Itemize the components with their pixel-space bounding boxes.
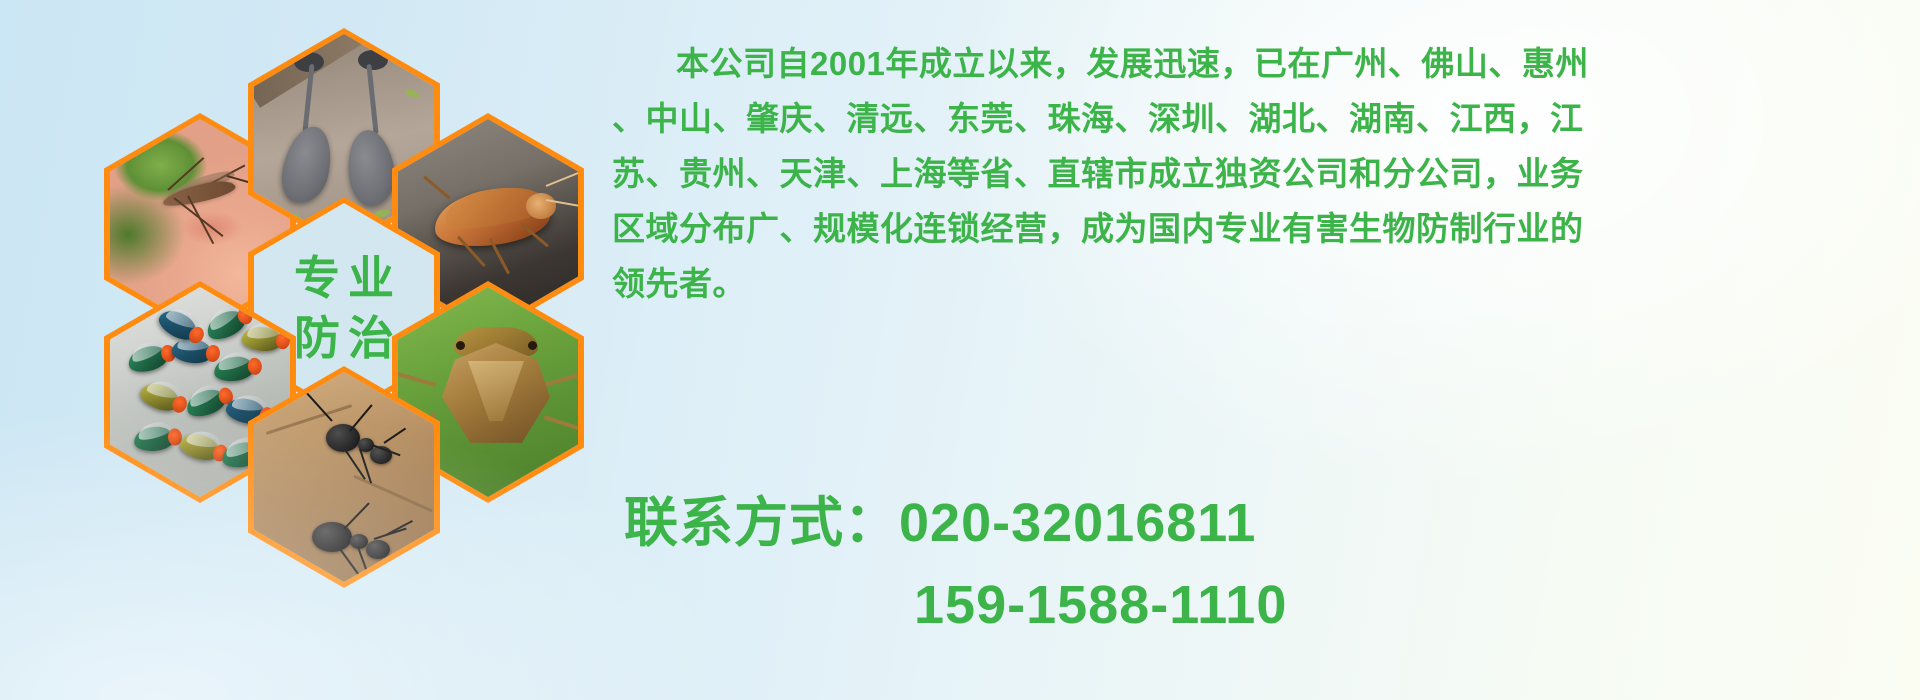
contact-phone-row: 联系方式：020-32016811 <box>624 482 1914 564</box>
intro-line-1: 本公司自2001年成立以来，发展迅速，已在广州、佛山、惠州 <box>612 36 1902 91</box>
ant-gaster <box>326 424 360 452</box>
ants-photo <box>254 372 434 582</box>
fly-body <box>137 378 183 415</box>
contact-label: 联系方式： <box>624 493 899 553</box>
leaf-debris <box>403 87 420 100</box>
bug-leg <box>543 370 578 387</box>
bug-leg <box>543 415 578 434</box>
rodent-clamp <box>358 50 388 70</box>
promo-banner: 专业 防治 <box>0 0 1920 700</box>
fly-body <box>155 305 202 346</box>
rodent-body <box>276 122 337 208</box>
fly-body <box>213 355 255 383</box>
ant-leg <box>349 404 372 431</box>
intro-paragraph: 本公司自2001年成立以来，发展迅速，已在广州、佛山、惠州 、中山、肇庆、清远、… <box>612 36 1902 311</box>
slogan-line-2: 防治 <box>286 315 402 361</box>
slogan-line-1: 专业 <box>286 255 402 301</box>
ant-antenna <box>383 428 406 444</box>
bug-eye <box>528 341 537 350</box>
ant-leg <box>343 502 369 529</box>
fly-body <box>241 325 283 353</box>
cockroach-antenna <box>546 170 578 187</box>
fly-body <box>126 343 171 376</box>
ant-antenna <box>386 520 413 536</box>
fly-body <box>133 426 175 453</box>
bug-eye <box>456 341 465 350</box>
intro-line-3: 苏、贵州、天津、上海等省、直辖市成立独资公司和分公司，业务 <box>612 146 1902 201</box>
honeycomb-image-cluster: 专业 防治 <box>0 0 600 700</box>
bug-leg <box>398 370 437 387</box>
intro-line-4: 区域分布广、规模化连锁经营，成为国内专业有害生物防制行业的 <box>612 201 1902 256</box>
fly-body <box>177 429 222 464</box>
rodent-tail <box>366 64 378 134</box>
rodent-body <box>343 127 399 209</box>
intro-line-2: 、中山、肇庆、清远、东莞、珠海、深圳、湖北、湖南、江西，江 <box>612 91 1902 146</box>
contact-mobile[interactable]: 159-1588-1110 <box>914 575 1287 635</box>
ant-head <box>366 540 390 559</box>
cockroach-head <box>526 193 556 219</box>
intro-line-5: 领先者。 <box>612 256 1902 311</box>
hex-inner-ants <box>254 372 434 582</box>
contact-mobile-row: 159-1588-1110 <box>624 564 1914 646</box>
contact-phone[interactable]: 020-32016811 <box>899 493 1256 553</box>
contact-block: 联系方式：020-32016811 159-1588-1110 <box>624 482 1914 646</box>
fly-body <box>183 385 228 420</box>
cockroach-leg <box>423 175 451 199</box>
